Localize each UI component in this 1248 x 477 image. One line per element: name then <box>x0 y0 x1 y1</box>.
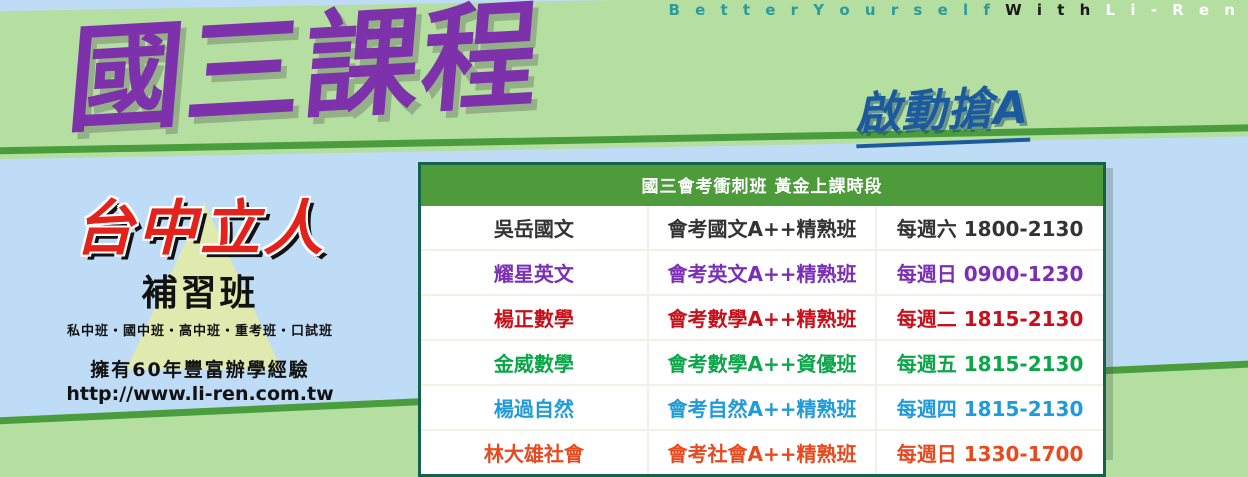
poster-canvas: B e t t e r Y o u r s e l f W i t h L i … <box>0 0 1248 477</box>
schedule-cell-teacher: 楊正數學 <box>420 295 648 340</box>
schedule-cell-time: 每週五 1815-2130 <box>876 340 1104 385</box>
logo-experience-text: 擁有60年豐富辦學經驗 <box>30 355 370 382</box>
tagline-segment-better-yourself: B e t t e r Y o u r s e l f <box>668 1 994 19</box>
schedule-cell-teacher: 吳岳國文 <box>420 206 648 250</box>
schedule-cell-course: 會考數學A++資優班 <box>648 340 876 385</box>
schedule-table-body: 吳岳國文會考國文A++精熟班每週六 1800-2130耀星英文會考英文A++精熟… <box>420 206 1105 476</box>
schedule-cell-course: 會考國文A++精熟班 <box>648 206 876 250</box>
schedule-cell-time: 每週四 1815-2130 <box>876 385 1104 430</box>
table-row: 林大雄社會會考社會A++精熟班每週日 1330-1700 <box>420 430 1105 476</box>
table-row: 耀星英文會考英文A++精熟班每週日 0900-1230 <box>420 250 1105 295</box>
schedule-cell-course: 會考英文A++精熟班 <box>648 250 876 295</box>
schedule-header-title: 國三會考衝刺班 黃金上課時段 <box>420 164 1105 207</box>
schedule-cell-course: 會考數學A++精熟班 <box>648 295 876 340</box>
schedule-cell-teacher: 金威數學 <box>420 340 648 385</box>
schedule-cell-time: 每週二 1815-2130 <box>876 295 1104 340</box>
logo-website-url[interactable]: http://www.li-ren.com.tw <box>30 383 370 405</box>
logo-class-list: 私中班・國中班・高中班・重考班・口試班 <box>30 320 370 339</box>
schedule-cell-course: 會考社會A++精熟班 <box>648 430 876 476</box>
brand-logo: 台中立人 補習班 私中班・國中班・高中班・重考班・口試班 擁有60年豐富辦學經驗… <box>30 196 370 405</box>
schedule-cell-time: 每週日 1330-1700 <box>876 430 1104 476</box>
schedule-cell-teacher: 耀星英文 <box>420 250 648 295</box>
logo-school-name: 台中立人 <box>30 196 370 262</box>
brand-tagline: B e t t e r Y o u r s e l f W i t h L i … <box>668 1 1240 19</box>
schedule-cell-time: 每週六 1800-2130 <box>876 206 1104 250</box>
page-title: 國三課程 <box>63 0 545 143</box>
schedule-table: 國三會考衝刺班 黃金上課時段 吳岳國文會考國文A++精熟班每週六 1800-21… <box>418 162 1106 477</box>
table-row: 金威數學會考數學A++資優班每週五 1815-2130 <box>420 340 1105 385</box>
table-row: 吳岳國文會考國文A++精熟班每週六 1800-2130 <box>420 206 1105 250</box>
table-row: 楊過自然會考自然A++精熟班每週四 1815-2130 <box>420 385 1105 430</box>
logo-school-type: 補習班 <box>30 264 370 316</box>
page-subtitle-text: 啟動搶A <box>854 81 1030 141</box>
schedule-table-head: 國三會考衝刺班 黃金上課時段 <box>420 164 1105 207</box>
tagline-segment-li-ren: L i - R e n <box>1106 1 1240 19</box>
schedule-cell-course: 會考自然A++精熟班 <box>648 385 876 430</box>
schedule-cell-teacher: 楊過自然 <box>420 385 648 430</box>
schedule-cell-time: 每週日 0900-1230 <box>876 250 1104 295</box>
page-subtitle: 啟動搶A <box>854 71 1030 149</box>
tagline-segment-with: W i t h <box>1005 1 1095 19</box>
schedule-header-row: 國三會考衝刺班 黃金上課時段 <box>420 164 1105 207</box>
schedule-cell-teacher: 林大雄社會 <box>420 430 648 476</box>
table-row: 楊正數學會考數學A++精熟班每週二 1815-2130 <box>420 295 1105 340</box>
